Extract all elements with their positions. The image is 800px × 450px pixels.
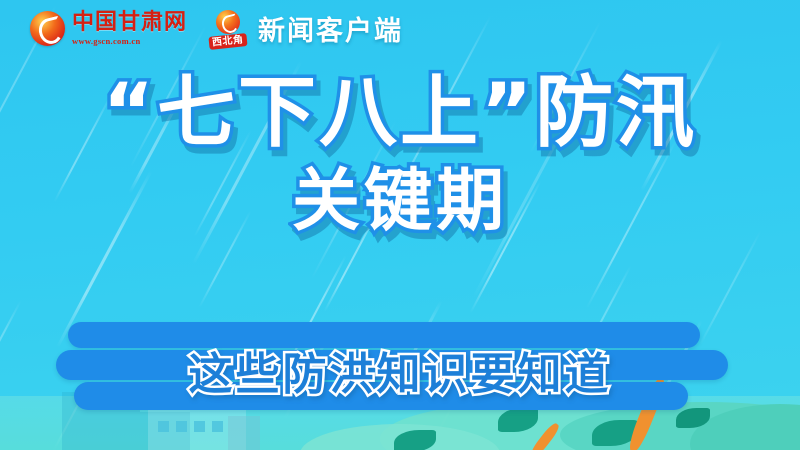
site-logo-url: www.gscn.com.cn [72, 37, 187, 46]
header-logos: 中国甘肃网 www.gscn.com.cn 西北角 新闻客户端 [30, 9, 403, 48]
building-window [212, 421, 223, 432]
subtitle-banner: 这些防洪知识要知道 [0, 322, 800, 418]
subtitle-text: 这些防洪知识要知道 [0, 322, 800, 418]
app-logo-badge: 西北角 [208, 33, 247, 50]
xibeijiao-swan-icon [216, 10, 240, 34]
building-window [194, 421, 205, 432]
building-window [158, 421, 169, 432]
page-title: “七下八上”防汛 关键期 [0, 74, 800, 236]
page-title-line-2: 关键期 [0, 168, 800, 236]
infographic-poster: 中国甘肃网 www.gscn.com.cn 西北角 新闻客户端 “七下八上”防汛… [0, 0, 800, 450]
xibeijiao-mark-icon: 西北角 [209, 10, 251, 48]
page-title-line-1: “七下八上”防汛 [0, 74, 800, 152]
site-logo[interactable]: 中国甘肃网 www.gscn.com.cn [30, 11, 187, 46]
gansu-swan-mark-icon [30, 11, 65, 46]
app-logo[interactable]: 西北角 新闻客户端 [209, 9, 403, 48]
building-silhouette [228, 416, 260, 450]
site-logo-name: 中国甘肃网 [72, 12, 187, 34]
grass-blade [394, 430, 436, 450]
building-window [176, 421, 187, 432]
app-logo-name: 新闻客户端 [258, 9, 403, 48]
building-window-row [158, 421, 223, 432]
